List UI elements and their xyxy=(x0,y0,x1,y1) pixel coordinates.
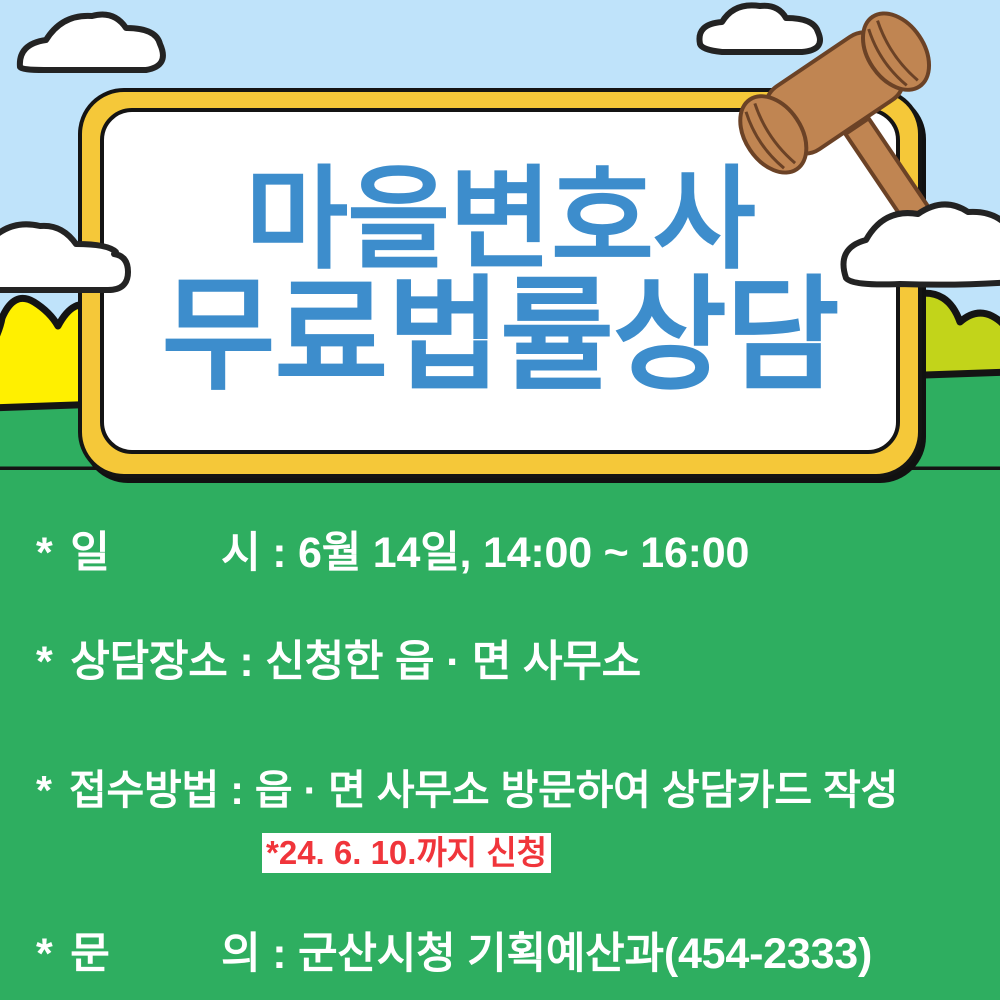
info-value-contact: 군산시청 기획예산과(454-2333) xyxy=(298,930,872,978)
bullet-star-1: * xyxy=(36,529,53,577)
info-sep-2: : xyxy=(239,638,253,686)
deadline-note-wrap: *24. 6. 10.까지 신청 xyxy=(0,833,1000,873)
info-label-datetime-tail: 시 xyxy=(221,529,260,577)
info-sep-3: : xyxy=(230,767,243,813)
info-row-datetime: * 일 시 : 6월 14일, 14:00 ~ 16:00 xyxy=(0,532,1000,575)
bullet-star-4: * xyxy=(36,930,53,978)
poster: 마을변호사 무료법률상담 * 일 시 : xyxy=(0,0,1000,1000)
poster-title-line-1: 마을변호사 xyxy=(245,166,755,274)
info-row-contact: * 문 의 : 군산시청 기획예산과(454-2333) xyxy=(0,933,1000,976)
bullet-star-3: * xyxy=(36,767,52,813)
gavel-handle xyxy=(845,118,945,248)
deadline-note: *24. 6. 10.까지 신청 xyxy=(262,833,551,873)
poster-title-line-2: 무료법률상담 xyxy=(161,277,838,396)
info-block: * 일 시 : 6월 14일, 14:00 ~ 16:00 * 상담장소 : 신… xyxy=(0,500,1000,976)
bullet-star-2: * xyxy=(36,638,53,686)
gavel-icon xyxy=(735,5,1000,255)
info-row-application: * 접수방법 : 읍 · 면 사무소 방문하여 상담카드 작성 xyxy=(0,770,1000,811)
info-sep-4: : xyxy=(272,930,286,978)
info-label-location: 상담장소 xyxy=(70,638,227,686)
info-sep-1: : xyxy=(272,529,286,577)
info-row-location: * 상담장소 : 신청한 읍 · 면 사무소 xyxy=(0,641,1000,684)
info-value-datetime: 6월 14일, 14:00 ~ 16:00 xyxy=(298,529,749,577)
info-label-datetime: 일 xyxy=(70,529,109,577)
cloud-top-left-icon xyxy=(20,15,163,71)
info-label-contact-tail: 의 xyxy=(221,930,260,978)
info-value-application: 읍 · 면 사무소 방문하여 상담카드 작성 xyxy=(255,767,898,813)
info-value-location: 신청한 읍 · 면 사무소 xyxy=(265,638,641,686)
info-label-contact: 문 xyxy=(70,930,109,978)
info-label-application: 접수방법 xyxy=(69,767,219,813)
